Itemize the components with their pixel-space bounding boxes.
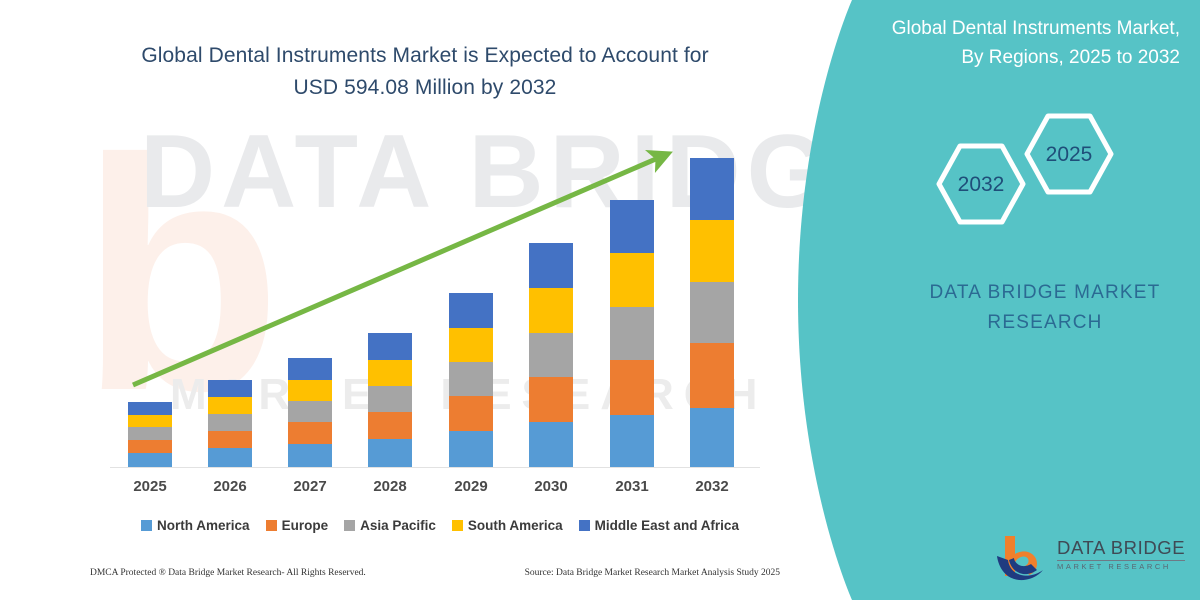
legend-item-middle-east-and-africa[interactable]: Middle East and Africa (579, 518, 739, 533)
x-axis-label-2025: 2025 (120, 478, 180, 495)
bar-segment-middle-east-and-africa-2025 (128, 402, 172, 415)
bar-segment-europe-2028 (368, 412, 412, 439)
right-panel-brand: DATA BRIDGE MARKET RESEARCH (900, 278, 1190, 339)
logo-divider (1057, 560, 1185, 561)
bar-segment-europe-2025 (128, 440, 172, 453)
legend-swatch-icon (141, 520, 152, 531)
bar-segment-middle-east-and-africa-2031 (610, 200, 654, 253)
legend-swatch-icon (579, 520, 590, 531)
bar-segment-north-america-2026 (208, 448, 252, 467)
bar-2026 (208, 380, 252, 467)
hex-badge-2025-label: 2025 (1023, 143, 1115, 167)
hex-badge-2032-label: 2032 (935, 173, 1027, 197)
bar-segment-south-america-2029 (449, 328, 493, 362)
legend-swatch-icon (344, 520, 355, 531)
footer-source: Source: Data Bridge Market Research Mark… (525, 568, 780, 578)
legend-label: Asia Pacific (360, 518, 436, 533)
bar-segment-south-america-2031 (610, 253, 654, 307)
x-axis-label-2026: 2026 (200, 478, 260, 495)
bar-2032 (690, 158, 734, 467)
bar-segment-middle-east-and-africa-2026 (208, 380, 252, 397)
hex-badge-2032: 2032 (935, 142, 1027, 226)
legend-item-south-america[interactable]: South America (452, 518, 563, 533)
bar-segment-south-america-2027 (288, 380, 332, 401)
legend-swatch-icon (266, 520, 277, 531)
bar-segment-europe-2026 (208, 431, 252, 448)
chart-legend: North AmericaEuropeAsia PacificSouth Ame… (110, 518, 770, 533)
bar-segment-asia-pacific-2028 (368, 386, 412, 412)
bar-segment-middle-east-and-africa-2030 (529, 243, 573, 288)
chart-baseline (110, 467, 760, 468)
bar-segment-asia-pacific-2026 (208, 414, 252, 431)
legend-swatch-icon (452, 520, 463, 531)
bar-segment-asia-pacific-2029 (449, 362, 493, 396)
bar-segment-north-america-2031 (610, 415, 654, 467)
data-bridge-logo-mark-icon (995, 534, 1049, 584)
logo-sub-text: MARKET RESEARCH (1057, 562, 1189, 571)
right-panel-brand-line-1: DATA BRIDGE MARKET (900, 278, 1190, 308)
bar-segment-europe-2032 (690, 343, 734, 408)
x-axis-label-2029: 2029 (441, 478, 501, 495)
footer: DMCA Protected ® Data Bridge Market Rese… (90, 568, 780, 578)
bar-segment-middle-east-and-africa-2032 (690, 158, 734, 220)
x-axis-label-2030: 2030 (521, 478, 581, 495)
bar-segment-middle-east-and-africa-2028 (368, 333, 412, 360)
bar-segment-north-america-2030 (529, 422, 573, 467)
bar-segment-middle-east-and-africa-2027 (288, 358, 332, 380)
bar-segment-asia-pacific-2025 (128, 427, 172, 440)
bar-segment-north-america-2032 (690, 408, 734, 467)
legend-item-asia-pacific[interactable]: Asia Pacific (344, 518, 436, 533)
bar-segment-north-america-2025 (128, 453, 172, 467)
bar-segment-europe-2027 (288, 422, 332, 444)
hex-badge-group: 2032 2025 (925, 112, 1115, 222)
bar-2027 (288, 358, 332, 467)
right-panel-title: Global Dental Instruments Market, By Reg… (835, 14, 1180, 73)
x-axis-labels: 20252026202720282029203020312032 (0, 478, 790, 502)
bar-segment-south-america-2030 (529, 288, 573, 333)
legend-item-europe[interactable]: Europe (266, 518, 329, 533)
x-axis-label-2027: 2027 (280, 478, 340, 495)
x-axis-label-2031: 2031 (602, 478, 662, 495)
bar-segment-asia-pacific-2030 (529, 333, 573, 377)
logo-main-text: DATA BRIDGE (1057, 538, 1189, 558)
right-panel-brand-line-2: RESEARCH (900, 308, 1190, 338)
bar-segment-europe-2030 (529, 377, 573, 422)
bar-2031 (610, 200, 654, 467)
bar-segment-europe-2031 (610, 360, 654, 415)
legend-label: Middle East and Africa (595, 518, 739, 533)
bar-segment-north-america-2029 (449, 431, 493, 467)
bar-segment-asia-pacific-2032 (690, 282, 734, 343)
bar-segment-europe-2029 (449, 396, 493, 431)
right-panel-title-line-1: Global Dental Instruments Market, (835, 14, 1180, 43)
bar-segment-south-america-2025 (128, 415, 172, 427)
data-bridge-logo: DATA BRIDGE MARKET RESEARCH (995, 532, 1190, 588)
bar-segment-middle-east-and-africa-2029 (449, 293, 493, 328)
bar-segment-south-america-2026 (208, 397, 252, 414)
legend-label: South America (468, 518, 563, 533)
bar-segment-north-america-2027 (288, 444, 332, 467)
bar-segment-asia-pacific-2031 (610, 307, 654, 360)
bar-segment-south-america-2032 (690, 220, 734, 282)
hex-badge-2025: 2025 (1023, 112, 1115, 196)
stacked-bar-chart: 20252026202720282029203020312032 North A… (0, 0, 790, 600)
infographic-canvas: b DATA BRIDGE MARKET RESEARCH Global Den… (0, 0, 1200, 600)
growth-trend-arrow (0, 0, 790, 600)
bar-segment-north-america-2028 (368, 439, 412, 467)
bar-2028 (368, 333, 412, 467)
legend-label: Europe (282, 518, 329, 533)
right-panel-title-line-2: By Regions, 2025 to 2032 (835, 43, 1180, 72)
bar-segment-asia-pacific-2027 (288, 401, 332, 422)
footer-copyright: DMCA Protected ® Data Bridge Market Rese… (90, 568, 366, 578)
data-bridge-logo-text: DATA BRIDGE MARKET RESEARCH (1057, 538, 1189, 571)
bar-2029 (449, 293, 493, 467)
bar-segment-south-america-2028 (368, 360, 412, 386)
x-axis-label-2032: 2032 (682, 478, 742, 495)
x-axis-label-2028: 2028 (360, 478, 420, 495)
bar-2025 (128, 402, 172, 467)
legend-item-north-america[interactable]: North America (141, 518, 250, 533)
bar-2030 (529, 243, 573, 467)
legend-label: North America (157, 518, 250, 533)
